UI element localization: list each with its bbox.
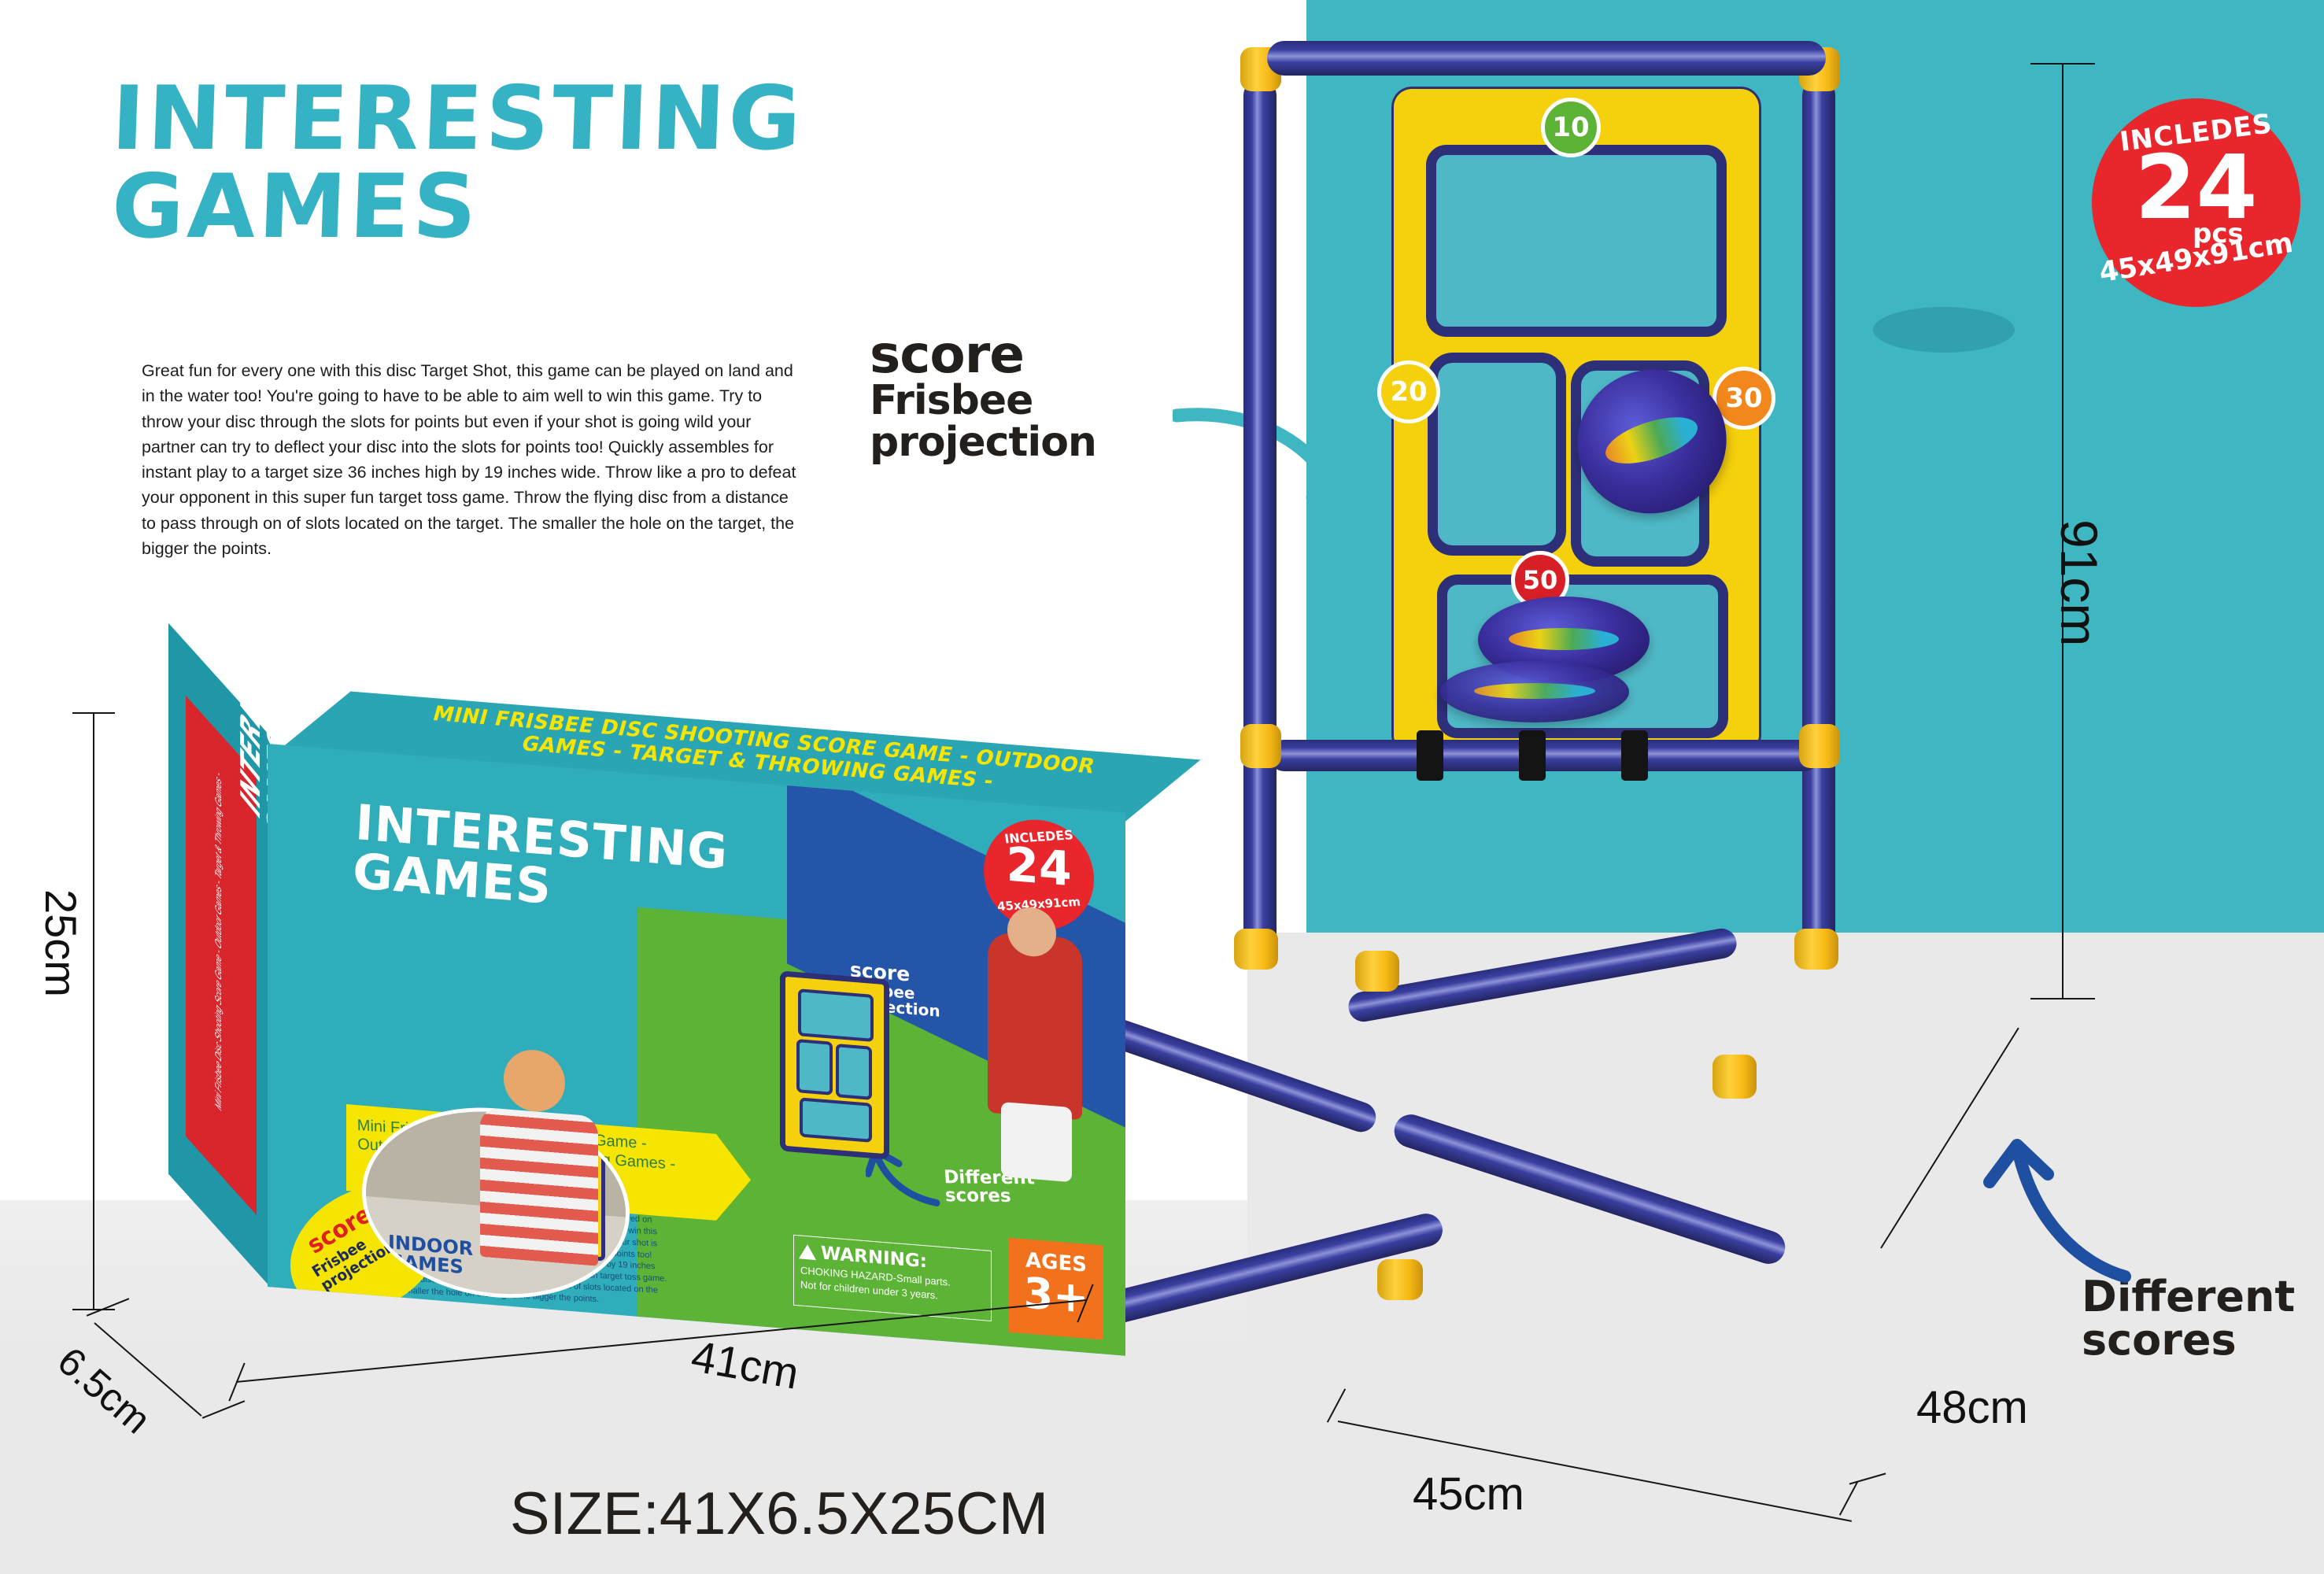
base-bar-back-right	[1346, 926, 1738, 1024]
kid-boy-head	[504, 1047, 565, 1114]
kid-girl-shorts	[1001, 1102, 1072, 1182]
box-different-scores-line2: scores	[944, 1188, 1079, 1207]
box-dim-tick-top	[72, 712, 115, 714]
score-badge-50-value: 50	[1523, 565, 1558, 595]
frame-top-bar	[1267, 41, 1826, 76]
joint-mid-left	[1240, 724, 1281, 768]
dim-label-height: 91cm	[2049, 519, 2109, 646]
box-dim-line-height	[93, 712, 94, 1310]
page-title-line2: GAMES	[110, 163, 866, 251]
strap-1	[1417, 730, 1443, 781]
joint-leg-left-bottom	[1234, 929, 1278, 970]
dim-label-depth: 48cm	[1916, 1381, 2028, 1434]
frame-right-post	[1802, 79, 1835, 960]
different-scores-line2: scores	[2082, 1318, 2318, 1362]
box-front-title: INTERESTING GAMES	[352, 798, 730, 926]
joint-mid-right	[1799, 724, 1840, 768]
box-side-face: Mini Frisbee Disc Shooting Score Game - …	[168, 623, 271, 1288]
score-badge-20-value: 20	[1390, 376, 1427, 408]
box-side-strip-text: Mini Frisbee Disc Shooting Score Game - …	[213, 730, 224, 1152]
dim-tick-height-bottom	[2030, 998, 2095, 999]
ages-value: 3+	[1009, 1271, 1103, 1321]
box-dim-tick-bottom	[72, 1309, 115, 1310]
dim-tick-height-top	[2030, 63, 2095, 65]
page-title-line1: INTERESTING	[110, 68, 806, 170]
score-badge-20: 20	[1377, 360, 1440, 423]
size-summary-text: SIZE:41X6.5X25CM	[0, 1480, 1558, 1548]
target-hole-20	[1428, 353, 1566, 556]
box-dim-label-height: 25cm	[35, 889, 87, 997]
joint-leg-right-bottom	[1794, 929, 1838, 970]
box-front-face: INTERESTING GAMES Mini Frisbee Disc Shoo…	[268, 744, 1125, 1356]
kid-boy-figure	[480, 1107, 598, 1266]
score-callout-title: score	[870, 331, 1200, 380]
product-render: 10 20 30 50	[1180, 31, 2062, 1417]
includes-badge: INCLEDES 24 pcs 45x49x91cm	[2092, 98, 2300, 307]
strap-2	[1519, 730, 1546, 781]
joint-base-right	[1713, 1055, 1757, 1099]
joint-base-top	[1355, 951, 1399, 992]
target-hole-10	[1426, 145, 1727, 337]
frame-left-post	[1243, 79, 1277, 960]
page-title: INTERESTING GAMES	[107, 75, 869, 251]
joint-base-front	[1377, 1259, 1423, 1300]
product-box-render: MINI FRISBEE DISC SHOOTING SCORE GAME - …	[150, 677, 1086, 1299]
target-board: 10 20 30 50	[1391, 87, 1761, 756]
strap-3	[1621, 730, 1648, 781]
frisbee-shadow-disc	[1873, 307, 2015, 353]
frisbee-disc-ground	[1440, 661, 1629, 722]
warning-triangle-icon	[799, 1243, 816, 1260]
score-callout: score Frisbee projection	[870, 331, 1200, 464]
box-mini-target	[780, 970, 889, 1159]
curved-arrow-up-icon	[1960, 1125, 2133, 1283]
different-scores-callout: Different scores	[2082, 1275, 2318, 1362]
base-bar-front-right	[1390, 1110, 1790, 1269]
box-badge-count: 24	[984, 839, 1094, 895]
score-badge-10: 10	[1541, 98, 1601, 157]
kid-girl-figure	[988, 932, 1082, 1121]
score-callout-line2: Frisbee	[870, 380, 1200, 422]
score-badge-10-value: 10	[1552, 112, 1589, 143]
score-callout-line3: projection	[870, 422, 1200, 464]
score-badge-30-value: 30	[1725, 382, 1762, 414]
